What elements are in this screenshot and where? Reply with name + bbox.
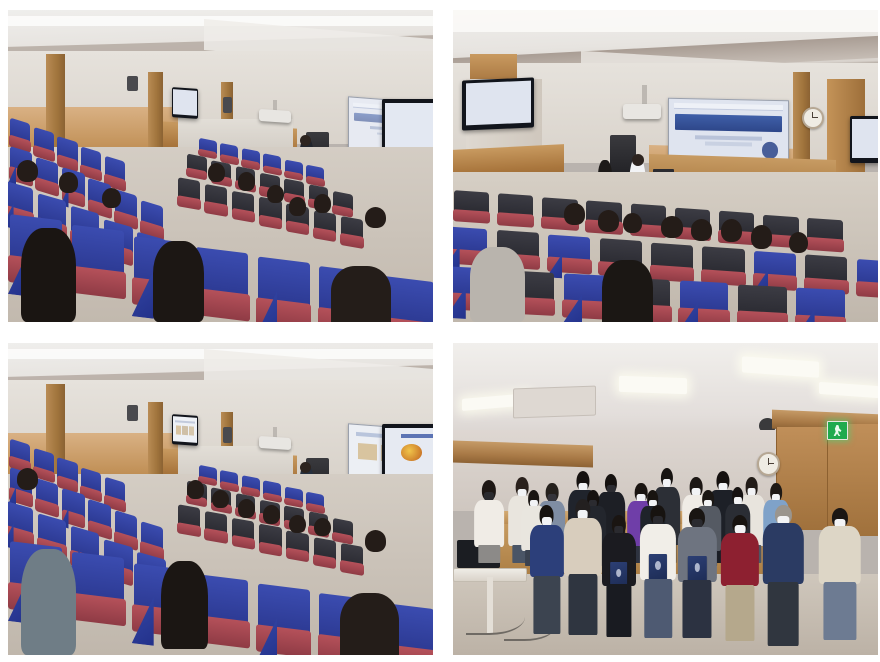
audience-member [187,480,204,499]
audience-member [314,194,331,213]
audience-member [267,185,284,204]
lecture-hall-scene-tr: Emerging two-dimensional magnetism in no… [453,10,878,322]
audience-member [365,530,386,552]
audience-member-foreground [602,260,653,322]
audience-member-foreground [470,247,525,322]
audience-member [102,188,121,208]
audience-member [289,197,306,216]
audience-member [564,203,585,225]
audience-member [212,490,229,509]
audience-member [238,172,255,191]
audience-member [238,499,255,518]
group-member-front [530,505,564,636]
audience-member [365,207,386,229]
photo-bottom-right[interactable]: Group photograph of roughly thirty maske… [453,343,878,655]
audience-member-foreground [153,241,204,322]
audience-member-foreground [340,593,400,655]
audience-member [289,515,306,534]
group-member-front [564,499,602,636]
ceiling-light [619,376,687,394]
audience-member-foreground [331,266,391,322]
group-member-front [763,505,803,645]
photo-collage: Title slide repeated on wall-mounted mon… [0,0,880,662]
wood-trim [453,440,593,467]
audience-member [751,225,772,248]
audience-member-foreground [21,228,76,322]
audience-member [721,219,742,242]
audience-member-foreground [161,561,208,648]
lecture-hall-scene-tl: Title slide repeated on wall-mounted mon… [8,10,433,322]
audience-member [314,518,331,537]
audience-member [263,505,280,524]
group-member-front [602,515,636,640]
emergency-exit-sign-icon [827,421,848,440]
audience-member [17,468,38,490]
group-member-front [721,515,759,643]
audience-member [598,210,619,232]
audience-member [661,216,682,238]
group-member-front [640,505,676,639]
group-photo-scene: Group photograph of roughly thirty maske… [453,343,878,655]
audience-member [208,163,225,182]
photo-top-right[interactable]: Emerging two-dimensional magnetism in no… [453,10,878,322]
group-member-front [678,508,716,639]
audience-member-foreground [21,549,76,655]
audience-member [789,232,808,254]
photo-bottom-left[interactable]: Slide with three figure thumbnails Resul… [8,343,433,655]
audience-member [59,172,78,192]
photo-top-left[interactable]: Title slide repeated on wall-mounted mon… [8,10,433,322]
audience-member [691,219,712,241]
group-member-front [819,508,862,645]
group-member [474,480,504,561]
lecture-hall-scene-bl: Slide with three figure thumbnails Resul… [8,343,433,655]
audience-member [623,213,642,233]
air-vent [513,385,596,418]
audience-member [17,160,38,182]
